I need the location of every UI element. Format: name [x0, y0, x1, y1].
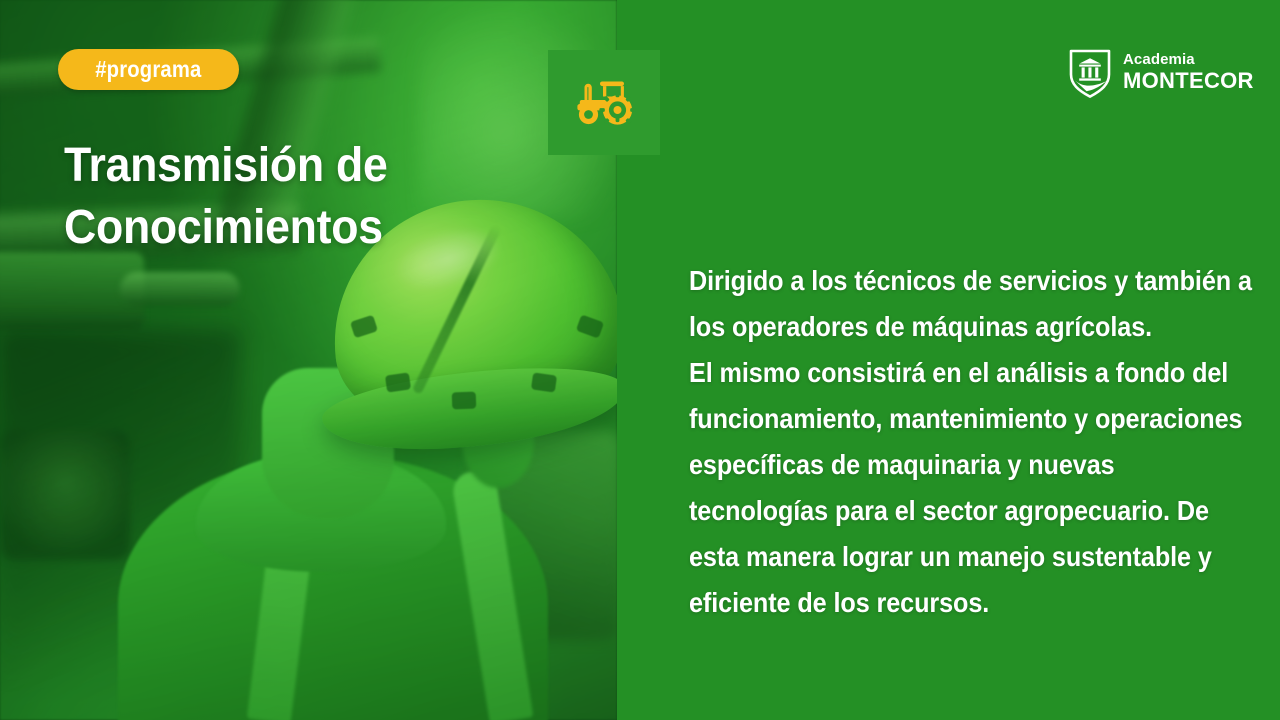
brand-logo: Academia MONTECOR	[1066, 46, 1254, 98]
brand-logo-wordmark: Academia MONTECOR	[1123, 52, 1254, 92]
program-description: Dirigido a los técnicos de servicios y t…	[689, 258, 1219, 626]
description-line-2: los operadores de máquinas agrícolas.	[689, 304, 1166, 350]
slide-title-line-2: Conocimientos	[64, 197, 548, 259]
brand-name-academia: Academia	[1123, 52, 1254, 67]
description-line-8: eficiente de los recursos.	[689, 580, 1166, 626]
program-badge-label: #programa	[95, 56, 201, 83]
tractor-icon	[570, 78, 638, 128]
description-line-6: tecnologías para el sector agropecuario.…	[689, 488, 1166, 534]
slide-title-line-1: Transmisión de	[64, 135, 548, 197]
description-line-4: funcionamiento, mantenimiento y operacio…	[689, 396, 1166, 442]
description-line-1: Dirigido a los técnicos de servicios y t…	[689, 258, 1166, 304]
description-line-5: específicas de maquinaria y nuevas	[689, 442, 1166, 488]
slide-title: Transmisión de Conocimientos	[64, 135, 584, 259]
description-line-3: El mismo consistirá en el análisis a fon…	[689, 350, 1166, 396]
brand-name-montecor: MONTECOR	[1123, 70, 1254, 92]
description-line-7: esta manera lograr un manejo sustentable…	[689, 534, 1166, 580]
presentation-slide: #programa Transmisión de Conocimientos	[0, 0, 1280, 720]
worker-photo-panel	[0, 0, 617, 720]
photo-green-screen-overlay	[0, 0, 617, 720]
tractor-icon-tile	[548, 50, 660, 155]
program-badge: #programa	[58, 49, 239, 90]
montecor-shield-icon	[1066, 46, 1114, 98]
